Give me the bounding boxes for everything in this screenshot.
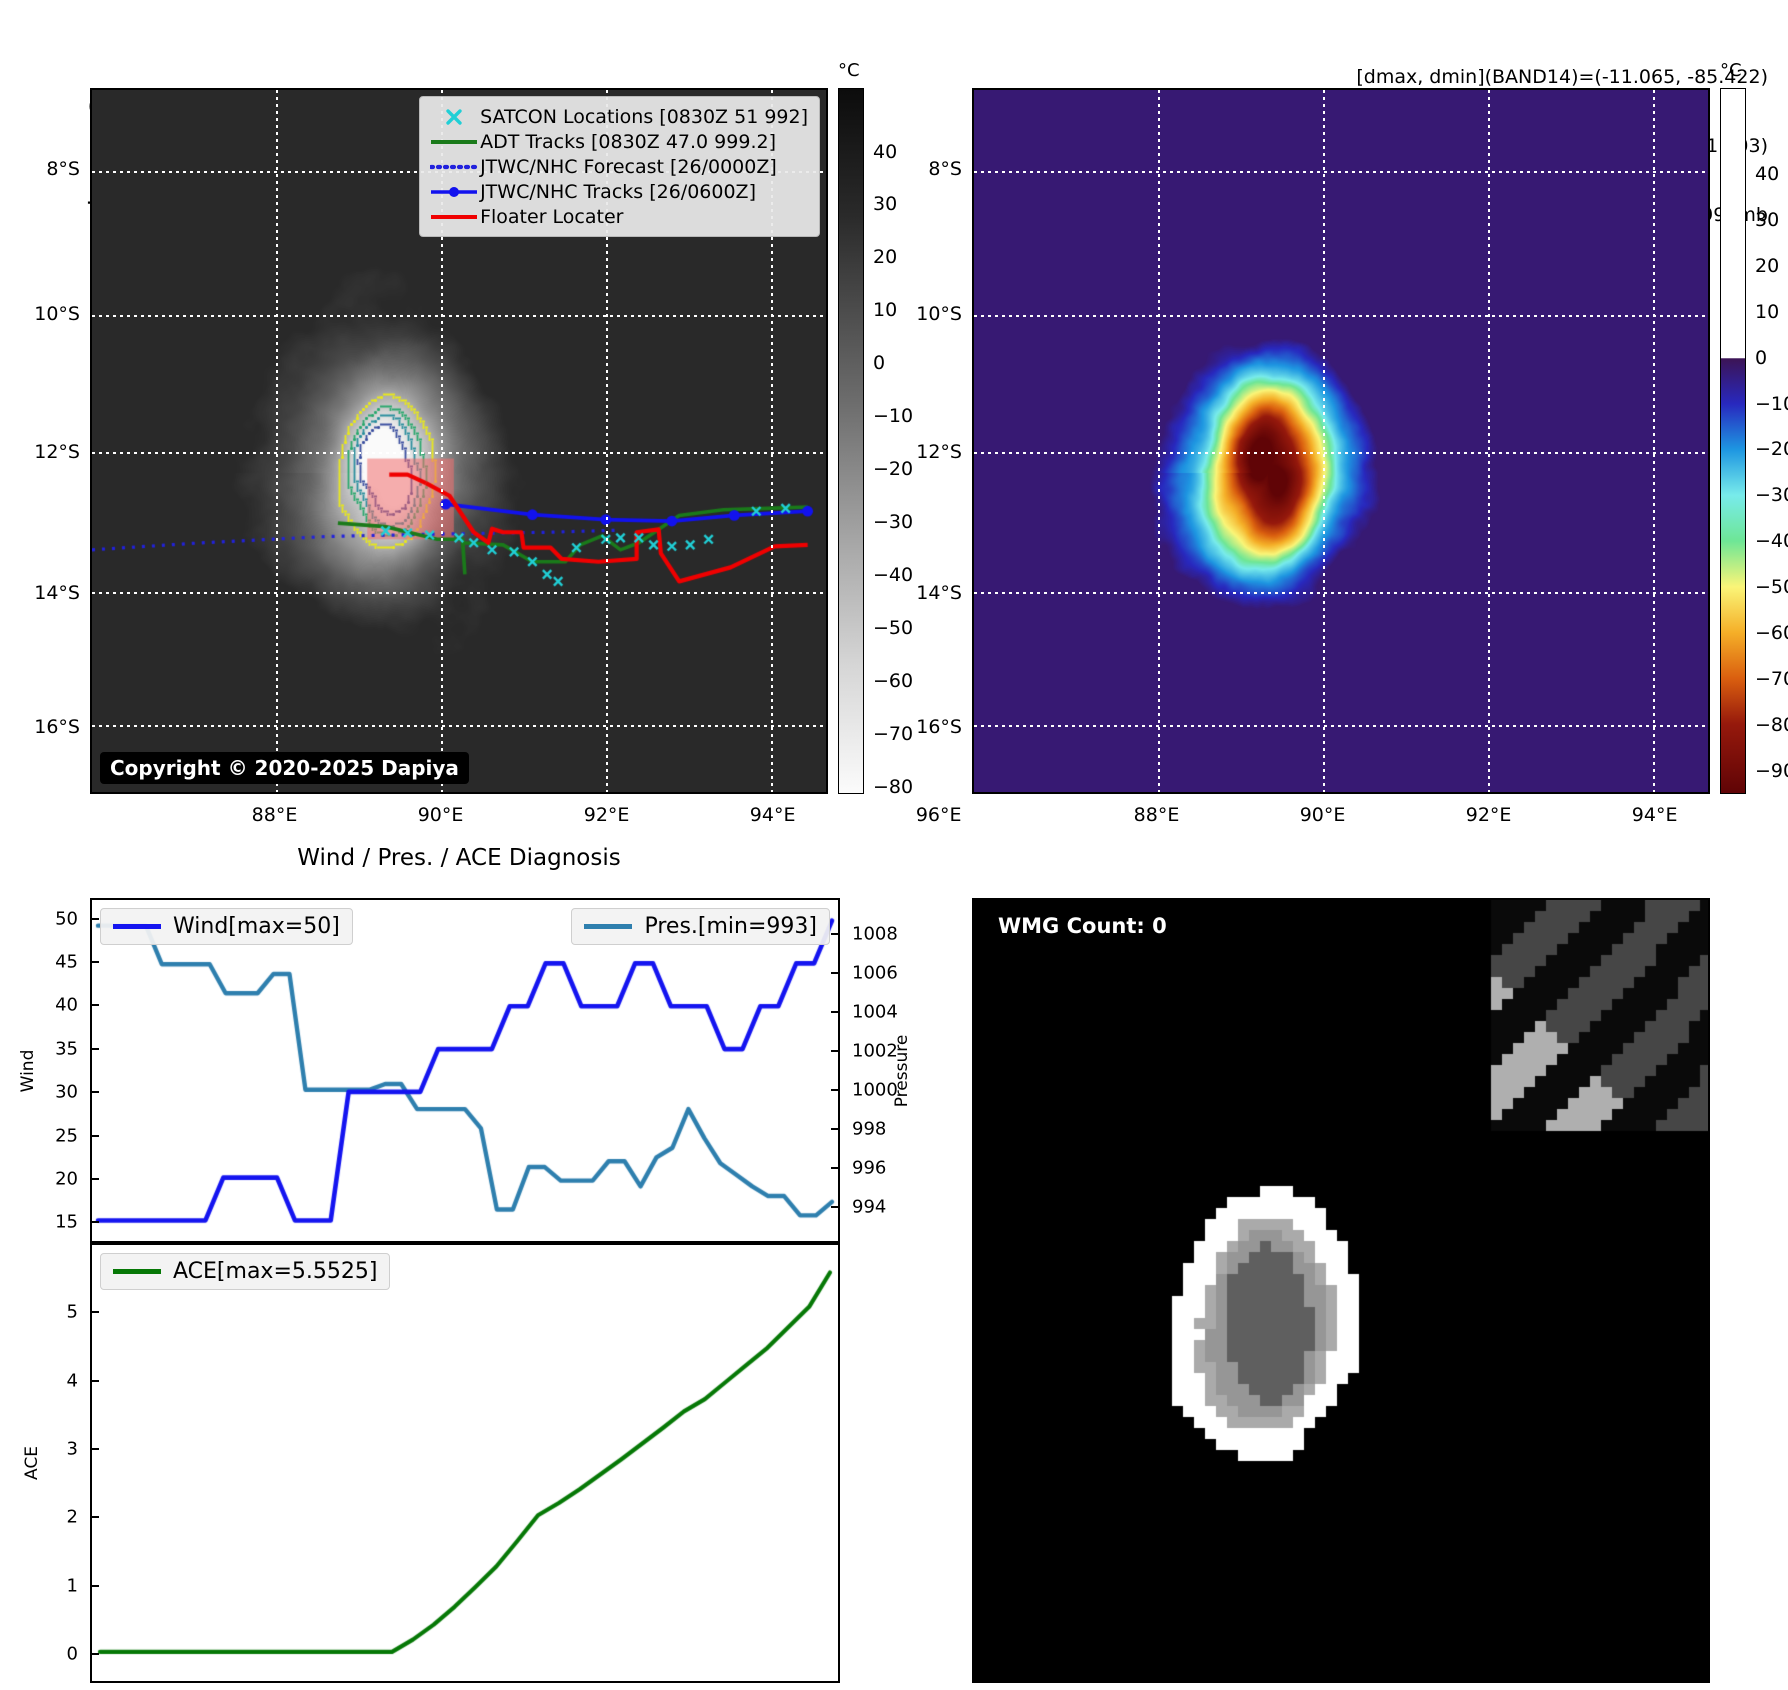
wind-y-tick: 15 xyxy=(55,1212,90,1233)
legend-label: ADT Tracks [0830Z 47.0 999.2] xyxy=(480,131,776,153)
gridline-lon xyxy=(276,90,278,792)
legend-item[interactable]: JTWC/NHC Forecast [26/0000Z] xyxy=(428,154,808,179)
pressure-y-tick: 996 xyxy=(840,1158,886,1179)
colorbar-tick: 0 xyxy=(864,352,885,374)
colorbar-tick: −50 xyxy=(864,617,913,639)
gridline-lon xyxy=(1158,90,1160,792)
wind-y-tick: 25 xyxy=(55,1125,90,1146)
wind-y-tick: 20 xyxy=(55,1168,90,1189)
colorbar-tick: −60 xyxy=(1746,622,1788,644)
dashboard-root: GEO-KOMPSAT-2A BAND14-DIAS FLOATER Time:… xyxy=(0,0,1788,1690)
pressure-legend[interactable]: Pres.[min=993] xyxy=(571,908,830,945)
colorbar-tick: −70 xyxy=(1746,668,1788,690)
gridline-lat xyxy=(92,725,826,727)
lat-tick: 8°S xyxy=(928,158,972,180)
legend-label: JTWC/NHC Tracks [26/0600Z] xyxy=(480,181,756,203)
wind-pressure-canvas xyxy=(92,900,838,1241)
colorbar-tick: 10 xyxy=(1746,301,1779,323)
gridline-lat xyxy=(974,315,1708,317)
colorbar-tick: −10 xyxy=(1746,393,1788,415)
colorbar-tick: 40 xyxy=(1746,163,1779,185)
ace-canvas xyxy=(92,1245,838,1681)
ace-series-swatch xyxy=(113,1269,161,1274)
lon-tick: 92°E xyxy=(584,794,630,826)
ace-chart[interactable]: ACE[max=5.5525] xyxy=(90,1243,840,1683)
lat-tick: 10°S xyxy=(916,303,972,325)
pressure-legend-label: Pres.[min=993] xyxy=(644,914,817,939)
colorbar-tick: −30 xyxy=(864,511,913,533)
forecast-dotted-line-icon xyxy=(428,162,480,172)
awv-colorbar: °C 40 30 20 10 0 −10 −20 −30 −40 −50 −60… xyxy=(1720,88,1746,794)
gridline-lat xyxy=(974,171,1708,173)
wind-y-tick: 45 xyxy=(55,952,90,973)
gridline-lat xyxy=(974,725,1708,727)
lon-tick: 92°E xyxy=(1466,794,1512,826)
colorbar-unit: °C xyxy=(838,60,860,81)
colorbar-tick: 10 xyxy=(864,299,897,321)
colorbar-tick: −40 xyxy=(864,564,913,586)
colorbar-tick: −20 xyxy=(864,458,913,480)
copyright-banner: Copyright © 2020-2025 Dapiya xyxy=(100,752,469,784)
gridline-lon xyxy=(1488,90,1490,792)
colorbar-tick: 20 xyxy=(864,246,897,268)
colorbar-tick: −80 xyxy=(864,776,913,798)
ace-y-tick: 0 xyxy=(67,1643,90,1664)
gridline-lat xyxy=(92,592,826,594)
colorbar-tick: −50 xyxy=(1746,576,1788,598)
ace-y-tick: 3 xyxy=(67,1438,90,1459)
colorbar-tick: −70 xyxy=(864,723,913,745)
ace-axis-label: ACE xyxy=(22,1446,42,1480)
colorbar-tick: −30 xyxy=(1746,484,1788,506)
ace-y-tick: 4 xyxy=(67,1370,90,1391)
pressure-y-tick: 1008 xyxy=(840,923,898,944)
legend-item[interactable]: SATCON Locations [0830Z 51 992] xyxy=(428,104,808,129)
lat-tick: 14°S xyxy=(34,582,90,604)
wmg-canvas xyxy=(974,900,1708,1681)
diagnosis-subtitle: Wind / Pres. / ACE Diagnosis xyxy=(297,845,620,871)
gridline-lon xyxy=(1653,90,1655,792)
colorbar-tick: 30 xyxy=(1746,209,1779,231)
pressure-axis-label: Pressure xyxy=(892,1034,912,1107)
lat-tick: 14°S xyxy=(916,582,972,604)
jtwc-track-line-dot-icon xyxy=(428,185,480,199)
ace-y-tick: 1 xyxy=(67,1575,90,1596)
colorbar-tick: −60 xyxy=(864,670,913,692)
colorbar-tick: −40 xyxy=(1746,530,1788,552)
wind-y-tick: 30 xyxy=(55,1082,90,1103)
legend-label: Floater Locater xyxy=(480,206,623,228)
ir-map-legend: SATCON Locations [0830Z 51 992] ADT Trac… xyxy=(419,96,820,237)
pressure-y-tick: 1002 xyxy=(840,1040,898,1061)
ir-colorbar: °C 40 30 20 10 0 −10 −20 −30 −40 −50 −60… xyxy=(838,88,864,794)
wmg-count-label: WMG Count: 0 xyxy=(988,910,1177,942)
lon-tick: 96°E xyxy=(916,794,962,826)
wind-axis-label: Wind xyxy=(18,1049,38,1092)
ace-y-tick: 2 xyxy=(67,1507,90,1528)
gridline-lat xyxy=(974,452,1708,454)
lat-tick: 16°S xyxy=(916,716,972,738)
ir-satellite-map[interactable]: SATCON Locations [0830Z 51 992] ADT Trac… xyxy=(90,88,828,794)
lon-tick: 88°E xyxy=(252,794,298,826)
colorbar-unit: °C xyxy=(1720,60,1742,81)
satcon-marker-icon xyxy=(428,106,480,128)
colorbar-tick: −10 xyxy=(864,405,913,427)
dmax-dmin-band14: [dmax, dmin](BAND14)=(-11.065, -85.422) xyxy=(1356,66,1768,89)
gridline-lon xyxy=(1323,90,1325,792)
ace-legend-label: ACE[max=5.5525] xyxy=(173,1259,377,1284)
pressure-y-tick: 1000 xyxy=(840,1080,898,1101)
lat-tick: 12°S xyxy=(916,441,972,463)
pressure-y-tick: 998 xyxy=(840,1119,886,1140)
lat-tick: 10°S xyxy=(34,303,90,325)
wind-legend[interactable]: Wind[max=50] xyxy=(100,908,353,945)
awv-map-canvas xyxy=(974,90,1708,792)
lon-tick: 90°E xyxy=(1300,794,1346,826)
legend-label: SATCON Locations [0830Z 51 992] xyxy=(480,106,808,128)
ace-y-tick: 5 xyxy=(67,1302,90,1323)
lon-tick: 94°E xyxy=(750,794,796,826)
pressure-y-tick: 994 xyxy=(840,1197,886,1218)
colorbar-tick: −80 xyxy=(1746,714,1788,736)
lat-tick: 16°S xyxy=(34,716,90,738)
pressure-y-tick: 1006 xyxy=(840,962,898,983)
lat-tick: 12°S xyxy=(34,441,90,463)
legend-label: JTWC/NHC Forecast [26/0000Z] xyxy=(480,156,777,178)
gridline-lat xyxy=(92,315,826,317)
colorbar-tick: −90 xyxy=(1746,760,1788,782)
gridline-lat xyxy=(974,592,1708,594)
lon-tick: 94°E xyxy=(1632,794,1678,826)
legend-item[interactable]: JTWC/NHC Tracks [26/0600Z] xyxy=(428,179,808,204)
wind-pressure-chart[interactable]: Wind[max=50] Pres.[min=993] xyxy=(90,898,840,1243)
legend-item[interactable]: Floater Locater xyxy=(428,204,808,229)
lon-tick: 88°E xyxy=(1134,794,1180,826)
wind-y-tick: 50 xyxy=(55,908,90,929)
pressure-y-tick: 1004 xyxy=(840,1001,898,1022)
colorbar-tick: 30 xyxy=(864,193,897,215)
wind-series-swatch xyxy=(113,924,161,929)
lon-tick: 90°E xyxy=(418,794,464,826)
legend-item[interactable]: ADT Tracks [0830Z 47.0 999.2] xyxy=(428,129,808,154)
wind-y-tick: 35 xyxy=(55,1038,90,1059)
wind-y-tick: 40 xyxy=(55,995,90,1016)
pressure-series-swatch xyxy=(584,924,632,929)
lat-tick: 8°S xyxy=(46,158,90,180)
colorbar-tick: 20 xyxy=(1746,255,1779,277)
ace-legend[interactable]: ACE[max=5.5525] xyxy=(100,1253,390,1290)
colorbar-tick: −20 xyxy=(1746,438,1788,460)
wind-legend-label: Wind[max=50] xyxy=(173,914,340,939)
gridline-lat xyxy=(92,452,826,454)
awv-satellite-map[interactable] xyxy=(972,88,1710,794)
colorbar-tick: 40 xyxy=(864,141,897,163)
adt-line-icon xyxy=(428,137,480,147)
floater-locater-line-icon xyxy=(428,212,480,222)
wmg-panel[interactable]: WMG Count: 0 xyxy=(972,898,1710,1683)
colorbar-tick: 0 xyxy=(1746,347,1767,369)
